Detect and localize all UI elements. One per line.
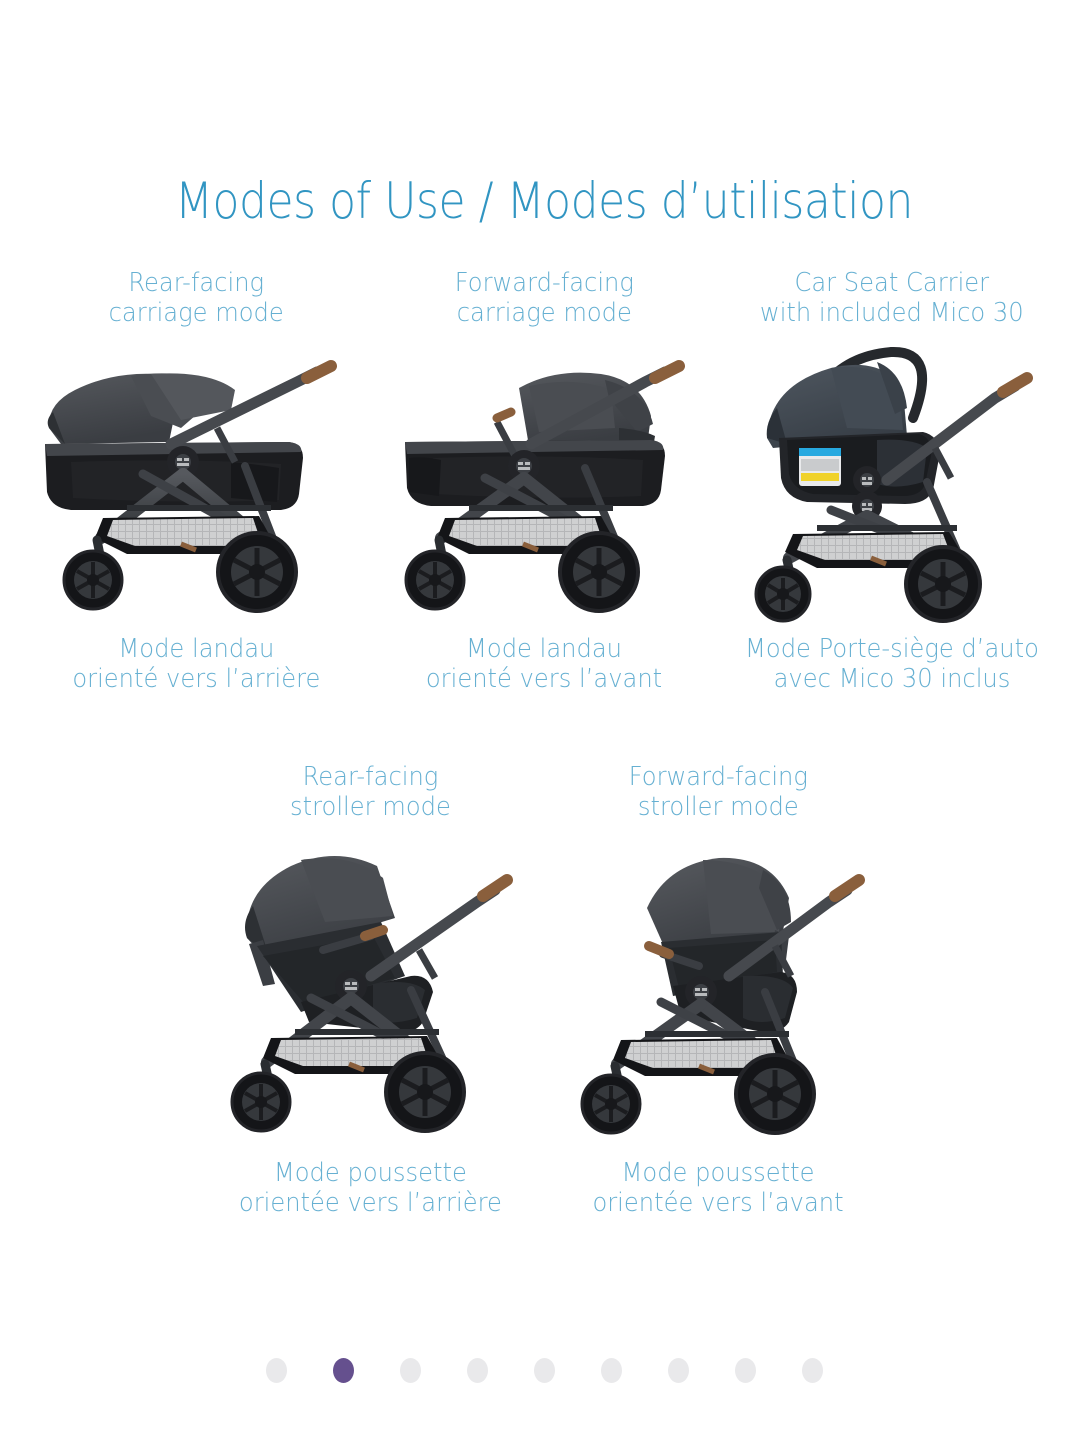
carousel-dot-4[interactable]: [467, 1358, 488, 1383]
carousel-pagination[interactable]: [0, 1358, 1088, 1383]
mode-label-fr: Mode Porte-siège d’auto avec Mico 30 inc…: [745, 634, 1039, 694]
mode-card-rear-facing-stroller[interactable]: Rear-facing stroller mode: [196, 762, 544, 1218]
mode-label-fr: Mode poussette orientée vers l’avant: [592, 1158, 843, 1218]
carousel-dot-8[interactable]: [735, 1358, 756, 1383]
carousel-dot-6[interactable]: [601, 1358, 622, 1383]
mode-label-en: Rear-facing carriage mode: [108, 268, 283, 328]
mode-card-car-seat-carrier[interactable]: Car Seat Carrier with included Mico 30: [718, 268, 1066, 694]
mode-label-en: Car Seat Carrier with included Mico 30: [760, 268, 1024, 328]
stroller-seat-forward-facing-image: [553, 826, 883, 1156]
carousel-dot-5[interactable]: [534, 1358, 555, 1383]
mode-label-fr: Mode landau orienté vers l’arrière: [72, 634, 320, 694]
mode-card-forward-facing-carriage[interactable]: Forward-facing carriage mode: [370, 268, 718, 694]
carousel-dot-9[interactable]: [802, 1358, 823, 1383]
modes-row-2: Rear-facing stroller mode: [0, 762, 1088, 1218]
mode-label-fr: Mode landau orienté vers l’avant: [426, 634, 662, 694]
stroller-carriage-forward-facing-image: [379, 332, 709, 632]
stroller-carriage-rear-facing-image: [31, 332, 361, 632]
page-title: Modes of Use / Modes d’utilisation: [65, 172, 1022, 230]
carousel-dot-1[interactable]: [266, 1358, 287, 1383]
stroller-car-seat-carrier-image: [727, 332, 1057, 632]
carousel-dot-7[interactable]: [668, 1358, 689, 1383]
modes-row-1: Rear-facing carriage mode: [0, 268, 1088, 694]
carousel-dot-2[interactable]: [333, 1358, 354, 1383]
mode-label-en: Forward-facing stroller mode: [628, 762, 807, 822]
stroller-seat-rear-facing-image: [205, 826, 535, 1156]
mode-label-en: Rear-facing stroller mode: [290, 762, 451, 822]
carousel-slide: Modes of Use / Modes d’utilisation Rear-…: [0, 0, 1088, 1440]
mode-card-rear-facing-carriage[interactable]: Rear-facing carriage mode: [22, 268, 370, 694]
carousel-dot-3[interactable]: [400, 1358, 421, 1383]
mode-card-forward-facing-stroller[interactable]: Forward-facing stroller mode: [544, 762, 892, 1218]
mode-label-fr: Mode poussette orientée vers l’arrière: [239, 1158, 502, 1218]
mode-label-en: Forward-facing carriage mode: [454, 268, 633, 328]
